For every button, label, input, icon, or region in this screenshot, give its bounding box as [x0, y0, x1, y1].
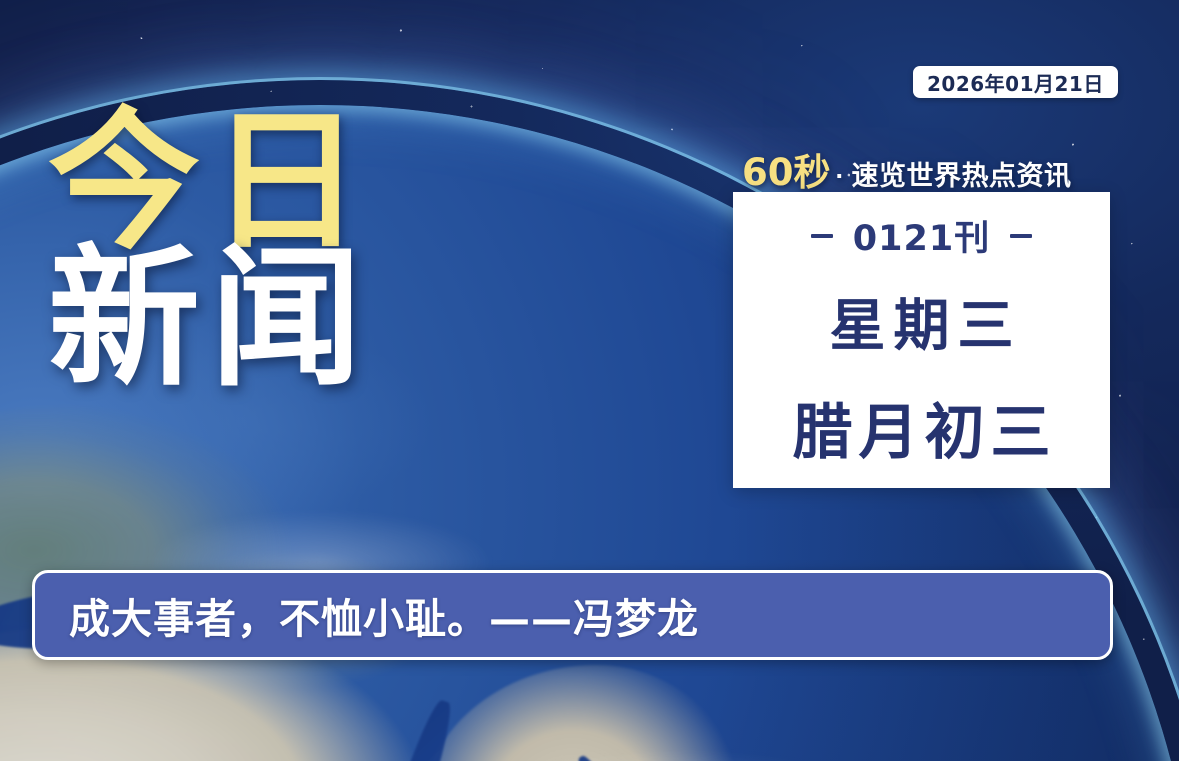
tagline-text: 速览世界热点资讯: [852, 154, 1072, 193]
dash-left-icon: [811, 234, 833, 238]
date-badge: 2026年01月21日: [913, 66, 1118, 98]
tagline-separator-dot: ·: [831, 161, 852, 192]
weekday-label: 星期三: [822, 281, 1022, 362]
lunar-date-label: 腊月初三: [787, 384, 1057, 471]
quote-bar: 成大事者，不恤小耻。——冯梦龙: [32, 570, 1113, 660]
tagline-highlight: 60秒: [742, 142, 831, 196]
info-card: 0121刊 星期三 腊月初三: [733, 192, 1110, 488]
title-line-news: 新闻: [48, 245, 372, 394]
news-poster: 今日 新闻 2026年01月21日 60秒 · 速览世界热点资讯 0121刊 星…: [0, 0, 1179, 761]
issue-row: 0121刊: [811, 210, 1032, 261]
dash-right-icon: [1010, 234, 1032, 238]
issue-number: 0121刊: [853, 210, 990, 261]
poster-title: 今日 新闻: [48, 108, 372, 394]
poster-content: 今日 新闻 2026年01月21日 60秒 · 速览世界热点资讯 0121刊 星…: [0, 0, 1179, 761]
quote-text: 成大事者，不恤小耻。——冯梦龙: [69, 585, 699, 645]
date-badge-label: 2026年01月21日: [927, 68, 1104, 97]
tagline: 60秒 · 速览世界热点资讯: [742, 142, 1072, 196]
